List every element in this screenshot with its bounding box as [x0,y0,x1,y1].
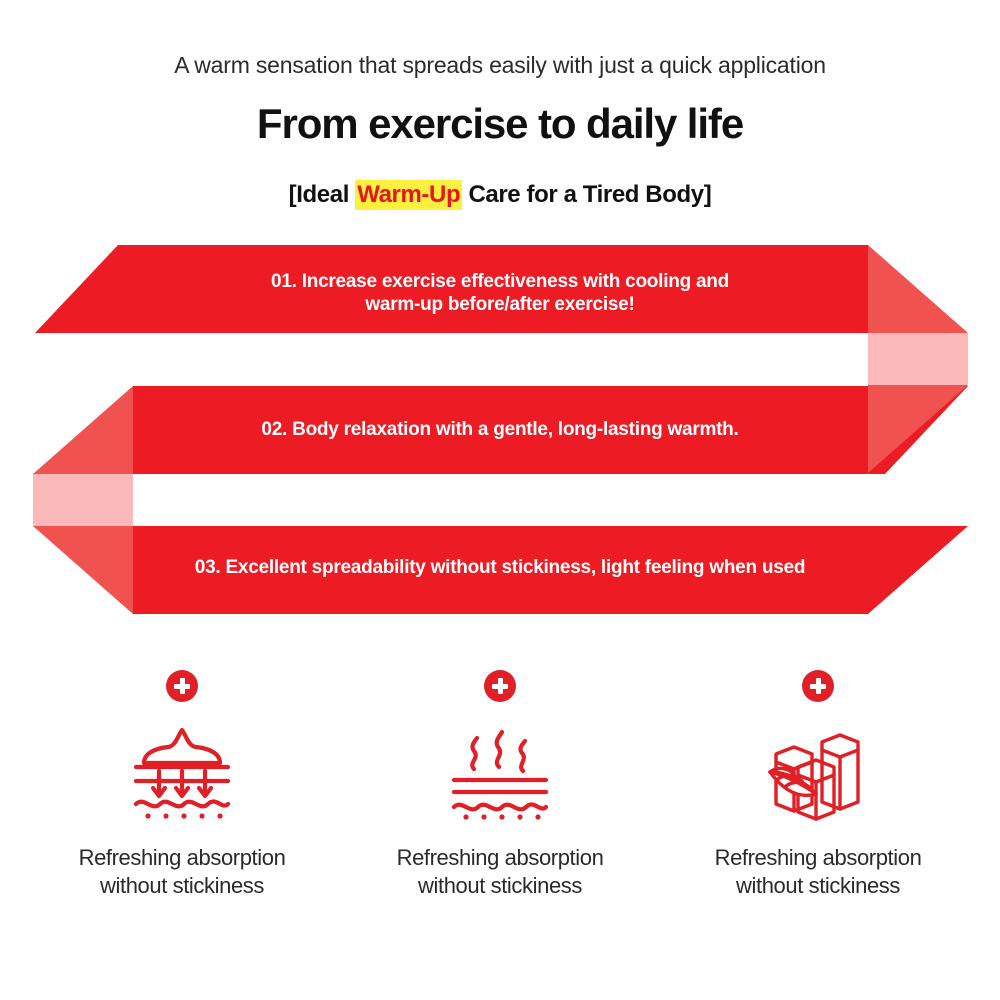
banner-03-body [133,526,968,614]
plus-circle-icon [166,670,198,702]
feature-item-1: Refreshing absorption without stickiness [23,650,341,950]
subtitle-highlight: Warm-Up [355,180,462,210]
feature-caption-1-line-1: Refreshing absorption [32,844,332,872]
feature-caption-3-line-2: without stickiness [668,872,968,900]
connector-band-left [33,474,133,526]
banner-stack: 01. Increase exercise effectiveness with… [0,240,1000,620]
banner-01-body [35,245,868,333]
feature-caption-3-line-1: Refreshing absorption [668,844,968,872]
banner-02-body [133,386,968,474]
feature-caption-3: Refreshing absorption without stickiness [668,844,968,900]
infographic-page: A warm sensation that spreads easily wit… [0,0,1000,1000]
feature-caption-2: Refreshing absorption without stickiness [350,844,650,900]
connector-band-right [868,333,968,385]
subtitle-prefix: [Ideal [289,181,356,208]
feature-caption-1-line-2: without stickiness [32,872,332,900]
banner-shapes [0,240,1000,620]
feature-row: Refreshing absorption without stickiness [0,650,1000,950]
banner-01-head-upper [868,245,968,333]
feature-item-2: Refreshing absorption without stickiness [341,650,659,950]
feature-caption-2-line-1: Refreshing absorption [350,844,650,872]
plus-circle-icon [484,670,516,702]
skin-absorption-icon [128,724,236,824]
plus-circle-icon [802,670,834,702]
subtitle-suffix: Care for a Tired Body] [462,181,711,208]
kicker-text: A warm sensation that spreads easily wit… [0,52,1000,80]
banner-03-tail-lower [33,526,133,614]
page-title: From exercise to daily life [0,98,1000,151]
heat-waves-skin-icon [446,724,554,824]
feature-caption-2-line-2: without stickiness [350,872,650,900]
feature-caption-1: Refreshing absorption without stickiness [32,844,332,900]
menthol-crystals-leaf-icon [764,724,872,824]
banner-02-head-upper [33,386,133,474]
subtitle-line: [Ideal Warm-Up Care for a Tired Body] [0,180,1000,210]
feature-item-3: Refreshing absorption without stickiness [659,650,977,950]
